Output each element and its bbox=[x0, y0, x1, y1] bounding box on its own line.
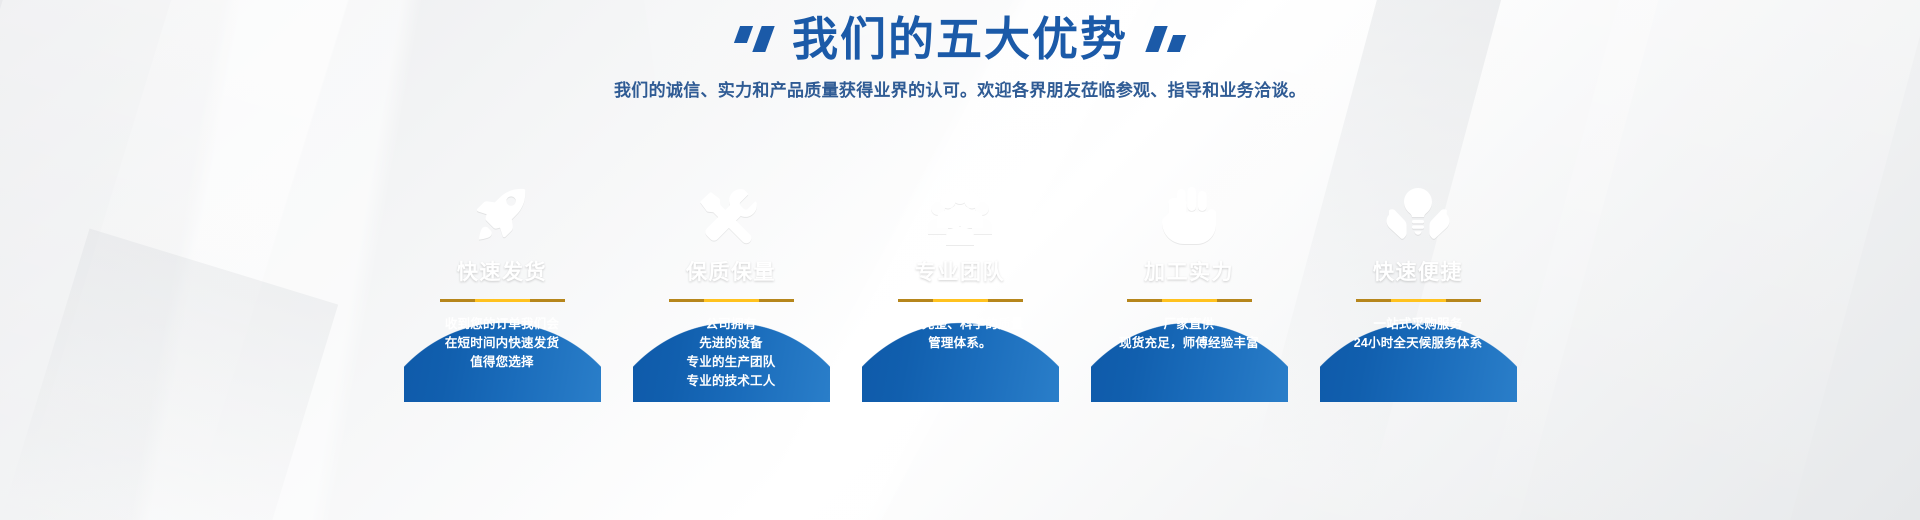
card-description-line: 现货充足，师傅经验丰富 bbox=[1119, 334, 1259, 353]
card-title: 快速发货 bbox=[457, 256, 547, 286]
advantage-card[interactable]: 加工实力 厂家直供 现货充足，师傅经验丰富 bbox=[1091, 140, 1288, 402]
card-description: 一站式采购服务 24小时全天候服务体系 bbox=[1354, 315, 1483, 353]
card-description-line: 先进的设备 bbox=[687, 334, 776, 353]
advantage-card-list: 快速发货 收到您的订单我们会 在短时间内快速发货 值得您选择 保 bbox=[0, 140, 1920, 402]
slash-decoration-left-icon bbox=[737, 26, 770, 52]
card-description: 收到您的订单我们会 在短时间内快速发货 值得您选择 bbox=[445, 315, 559, 372]
card-divider bbox=[898, 299, 1023, 302]
card-divider bbox=[1356, 299, 1481, 302]
card-description: 拥有完整、科学的质量 管理体系。 bbox=[896, 315, 1023, 353]
lightbulb-hands-icon bbox=[1386, 140, 1450, 250]
slash-decoration-right-icon bbox=[1150, 26, 1183, 52]
card-title: 快速便捷 bbox=[1373, 256, 1463, 286]
wrench-screwdriver-icon bbox=[699, 140, 763, 250]
card-description-line: 一站式采购服务 bbox=[1354, 315, 1483, 334]
card-description-line: 专业的生产团队 bbox=[687, 353, 776, 372]
card-description: 厂家直供 现货充足，师傅经验丰富 bbox=[1119, 315, 1259, 353]
card-description-line: 管理体系。 bbox=[896, 334, 1023, 353]
card-divider bbox=[1127, 299, 1252, 302]
card-description-line: 值得您选择 bbox=[445, 353, 559, 372]
card-description-line: 24小时全天候服务体系 bbox=[1354, 334, 1483, 353]
card-description-line: 专业的技术工人 bbox=[687, 372, 776, 391]
card-divider bbox=[440, 299, 565, 302]
card-description-line: 在短时间内快速发货 bbox=[445, 334, 559, 353]
card-title: 加工实力 bbox=[1144, 256, 1234, 286]
card-description-line: 收到您的订单我们会 bbox=[445, 315, 559, 334]
card-description-line: 拥有完整、科学的质量 bbox=[896, 315, 1023, 334]
people-group-icon bbox=[926, 140, 994, 250]
fist-icon bbox=[1160, 140, 1218, 250]
card-description-line: 厂家直供 bbox=[1119, 315, 1259, 334]
card-divider bbox=[669, 299, 794, 302]
page-title: 我们的五大优势 bbox=[792, 16, 1128, 62]
card-description: 公司拥有 先进的设备 专业的生产团队 专业的技术工人 bbox=[687, 315, 776, 391]
rocket-icon bbox=[471, 140, 533, 250]
advantages-banner: 我们的五大优势 我们的诚信、实力和产品质量获得业界的认可。欢迎各界朋友莅临参观、… bbox=[0, 0, 1920, 520]
advantage-card[interactable]: 快速发货 收到您的订单我们会 在短时间内快速发货 值得您选择 bbox=[404, 140, 601, 402]
card-title: 保质保量 bbox=[686, 256, 776, 286]
advantage-card[interactable]: 快速便捷 一站式采购服务 24小时全天候服务体系 bbox=[1320, 140, 1517, 402]
advantage-card[interactable]: 专业团队 拥有完整、科学的质量 管理体系。 bbox=[862, 140, 1059, 402]
card-description-line: 公司拥有 bbox=[687, 315, 776, 334]
section-header: 我们的五大优势 我们的诚信、实力和产品质量获得业界的认可。欢迎各界朋友莅临参观、… bbox=[0, 0, 1920, 101]
card-title: 专业团队 bbox=[915, 256, 1005, 286]
page-subtitle: 我们的诚信、实力和产品质量获得业界的认可。欢迎各界朋友莅临参观、指导和业务洽谈。 bbox=[0, 76, 1920, 101]
advantage-card[interactable]: 保质保量 公司拥有 先进的设备 专业的生产团队 专业的技术工人 bbox=[633, 140, 830, 402]
